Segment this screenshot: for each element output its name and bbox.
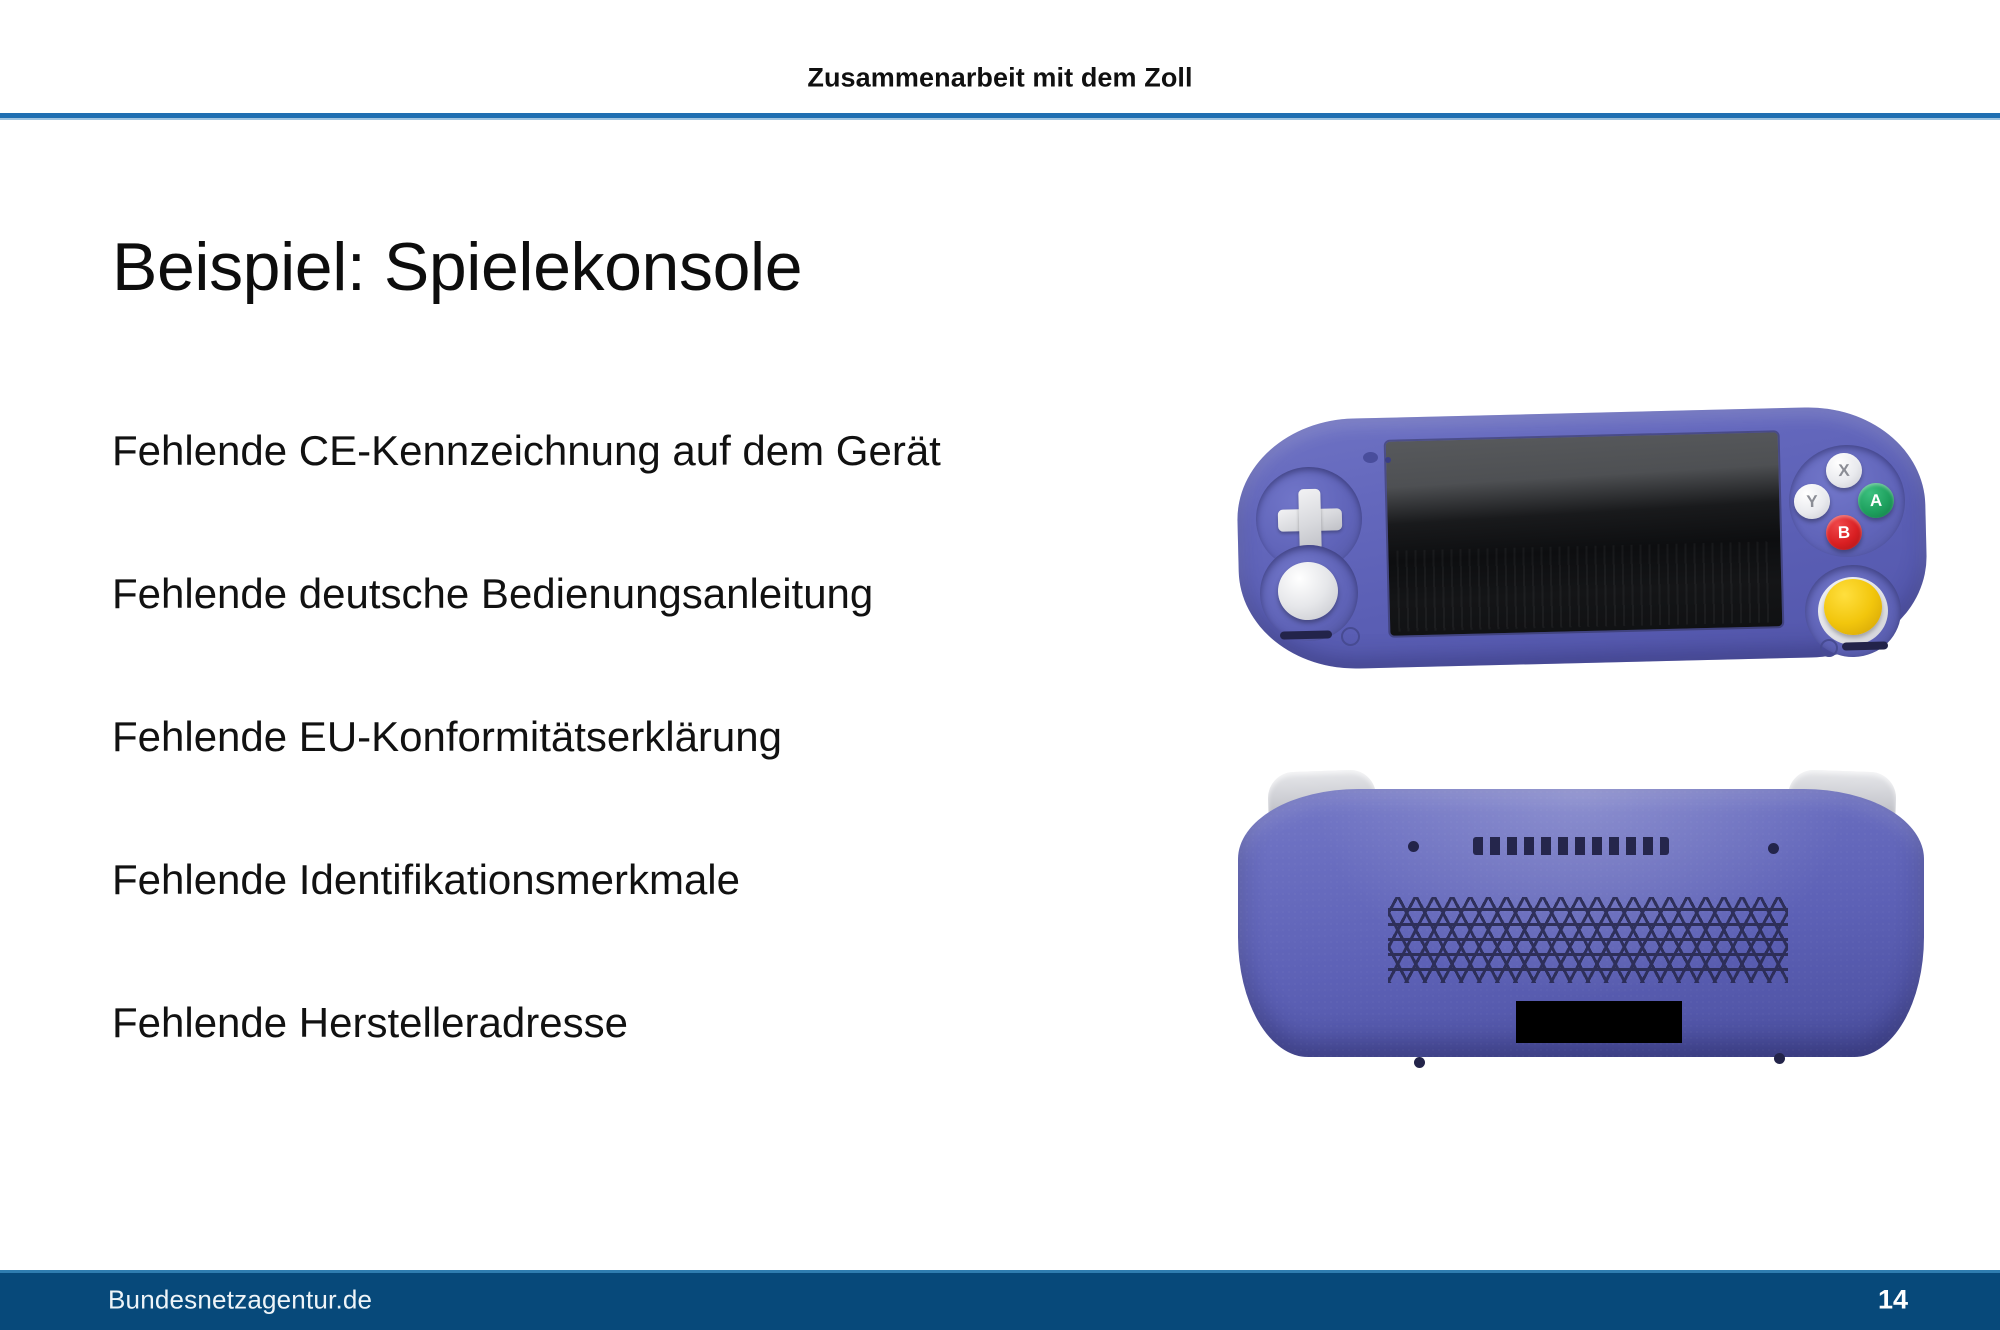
console-back-photo [1232,765,1932,1070]
dpad-vertical-arm [1298,489,1322,552]
redacted-label [1516,1001,1682,1043]
screw-hole-icon [1768,843,1779,854]
right-speaker-grille [1842,641,1888,650]
slide: Zusammenarbeit mit dem Zoll Beispiel: Sp… [0,0,2000,1330]
vent-slots [1473,837,1669,855]
dpad-icon [1277,488,1342,552]
footer-brand[interactable]: Bundesnetzagentur.de [108,1285,372,1316]
slide-footer: Bundesnetzagentur.de 14 [0,1270,2000,1330]
list-item: Fehlende Identifikationsmerkmale [112,859,1112,1002]
indicator-dot-icon [1385,457,1391,463]
left-speaker-grille [1280,630,1332,639]
page-number: 14 [1878,1285,1908,1316]
screw-hole-icon [1774,1053,1785,1064]
console-front-photo: X Y A B [1238,405,1926,675]
screw-hole-icon [1408,841,1419,852]
list-item: Fehlende EU-Konformitätserklärung [112,716,1112,859]
list-item: Fehlende Herstelleradresse [112,1002,1112,1145]
console-back-shell [1238,789,1924,1057]
list-item: Fehlende CE-Kennzeichnung auf dem Gerät [112,430,1112,573]
footer-top-line [0,1270,2000,1273]
header-title: Zusammenarbeit mit dem Zoll [0,65,2000,92]
deficiency-list: Fehlende CE-Kennzeichnung auf dem Gerät … [112,430,1112,1145]
page-title: Beispiel: Spielekonsole [112,231,802,304]
header-divider-shadow [0,118,2000,120]
speaker-mesh-grille [1388,897,1788,983]
screw-hole-icon [1414,1057,1425,1068]
slide-header: Zusammenarbeit mit dem Zoll [0,0,2000,118]
list-item: Fehlende deutsche Bedienungsanleitung [112,573,1112,716]
console-screen [1386,432,1783,636]
